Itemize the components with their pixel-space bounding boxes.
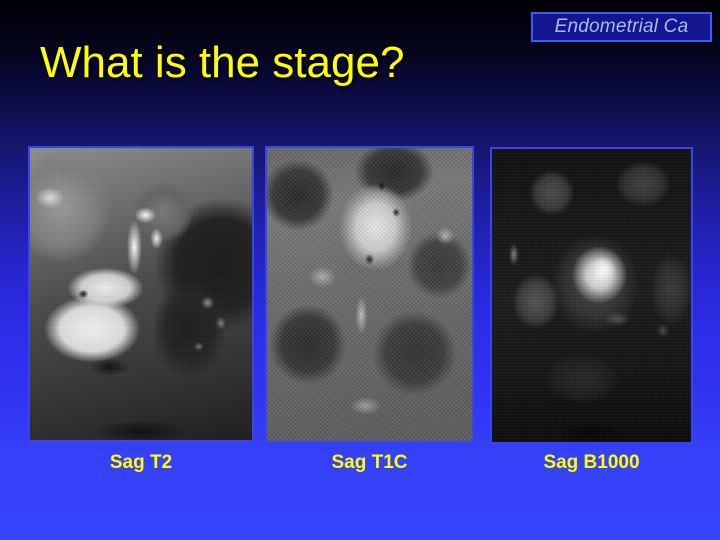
sagittal-t1-post-contrast-mri-noise-layer <box>267 148 472 441</box>
image-panel-sag-t1c[interactable] <box>265 146 474 443</box>
diagnosis-badge-label: Endometrial Ca <box>555 16 689 38</box>
image-panel-sag-b1000[interactable] <box>490 147 693 444</box>
image-panel-sag-t2[interactable] <box>28 146 254 442</box>
panel-caption-sag-b1000: Sag B1000 <box>490 452 693 474</box>
sagittal-t2-mri-noise-layer <box>30 148 252 440</box>
presentation-slide: Endometrial Ca What is the stage? Sag T2… <box>0 0 720 540</box>
panel-caption-sag-t2: Sag T2 <box>28 452 254 474</box>
diagnosis-badge: Endometrial Ca <box>531 12 712 42</box>
panel-caption-sag-t1c: Sag T1C <box>265 452 474 474</box>
slide-title: What is the stage? <box>40 38 404 88</box>
sagittal-diffusion-b1000-mri-noise-layer <box>492 149 691 442</box>
